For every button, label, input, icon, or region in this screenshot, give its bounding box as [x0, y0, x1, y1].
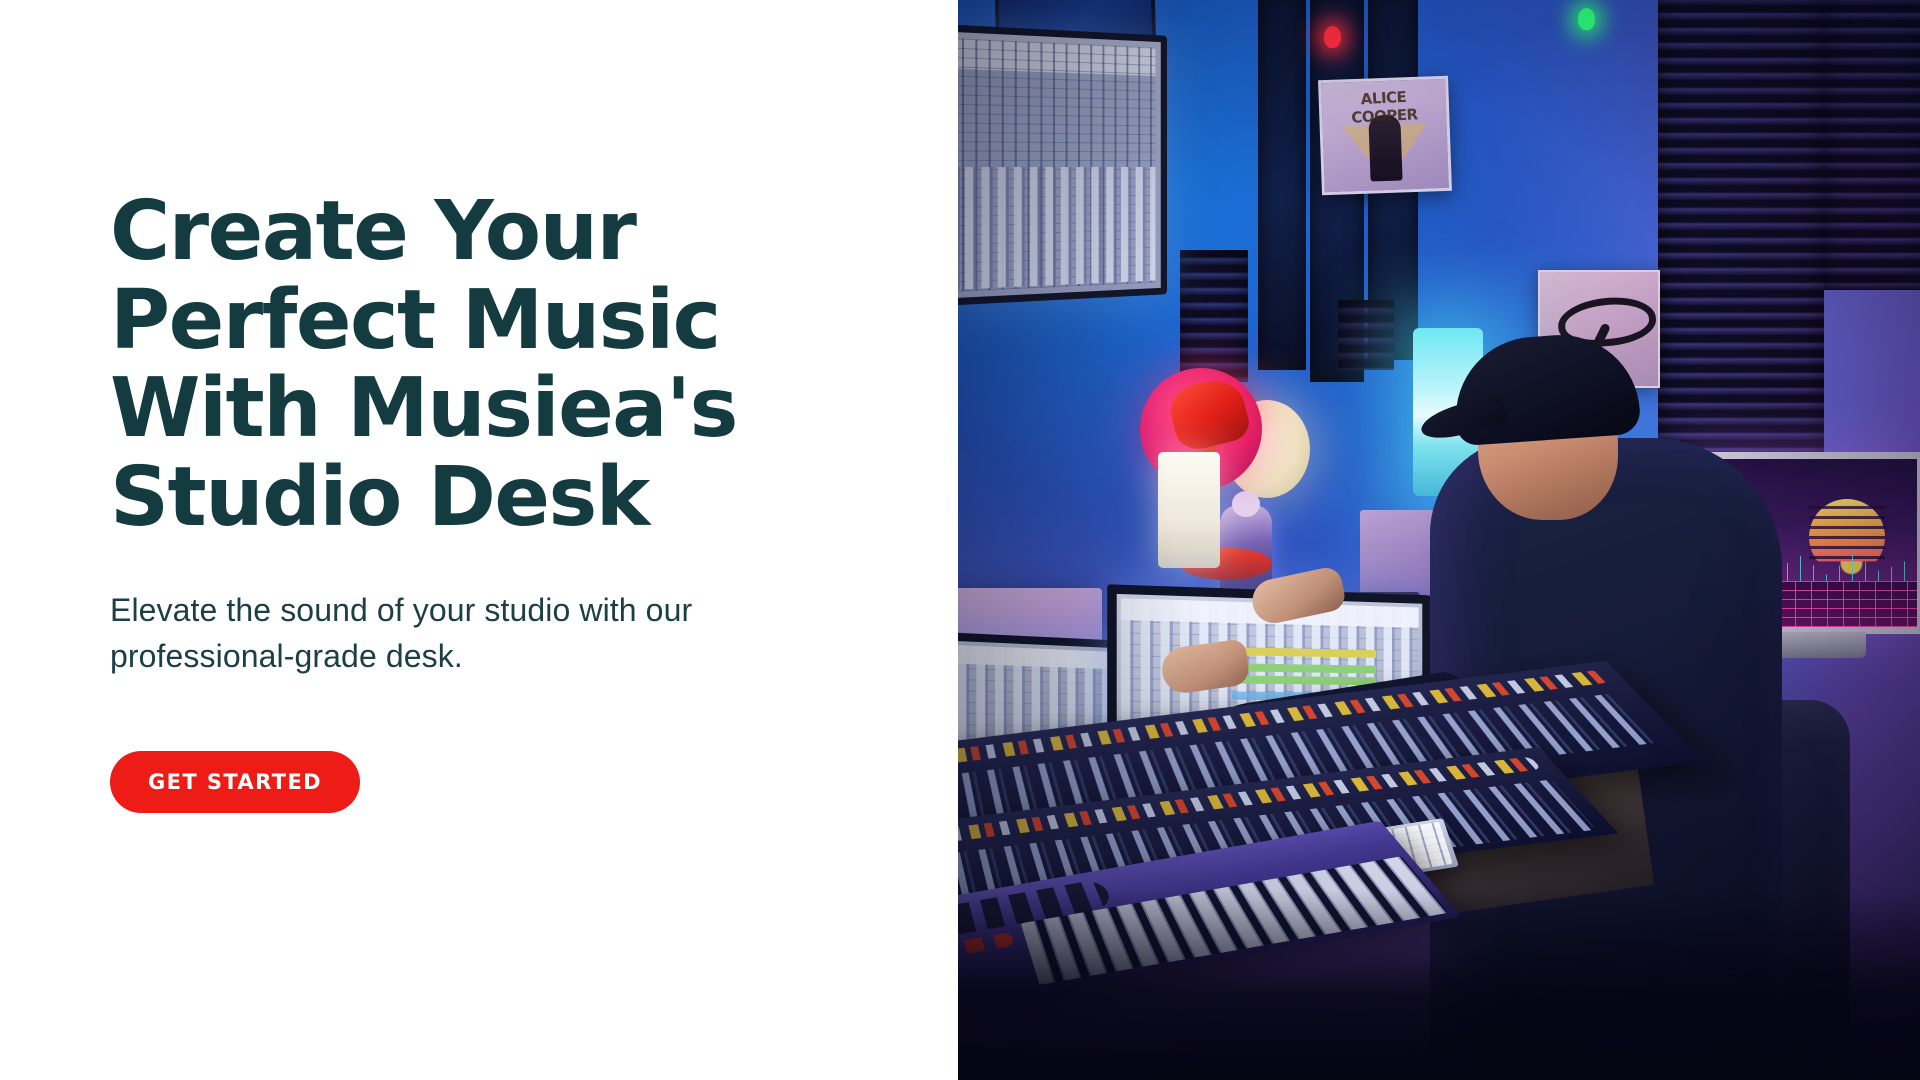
string-light-red — [1324, 26, 1341, 48]
hero-image: ALICE COOPER — [958, 0, 1920, 1080]
acoustic-foam-panel-upper-right — [1338, 300, 1394, 370]
hero-copy-column: Create Your Perfect Music With Musiea's … — [0, 0, 958, 1080]
acoustic-foam-panel-right — [1658, 0, 1824, 510]
get-started-button[interactable]: GET STARTED — [110, 751, 360, 813]
page-title: Create Your Perfect Music With Musiea's … — [110, 188, 810, 542]
acoustic-foam-panel-far-right — [1824, 0, 1920, 290]
wall-drape-left — [1258, 0, 1306, 370]
hero-section: Create Your Perfect Music With Musiea's … — [0, 0, 1920, 1080]
hero-subheadline: Elevate the sound of your studio with ou… — [110, 588, 710, 679]
acoustic-foam-panel-small — [1180, 250, 1248, 382]
mixer-screen-upper-left — [958, 24, 1167, 307]
white-cylinder-lamp — [1158, 452, 1220, 568]
foreground-shadow — [958, 890, 1920, 1080]
string-light-green — [1578, 8, 1595, 30]
poster-title: ALICE COOPER — [1327, 86, 1441, 128]
alice-cooper-poster: ALICE COOPER — [1318, 76, 1452, 195]
studio-photo-scene: ALICE COOPER — [958, 0, 1920, 1080]
